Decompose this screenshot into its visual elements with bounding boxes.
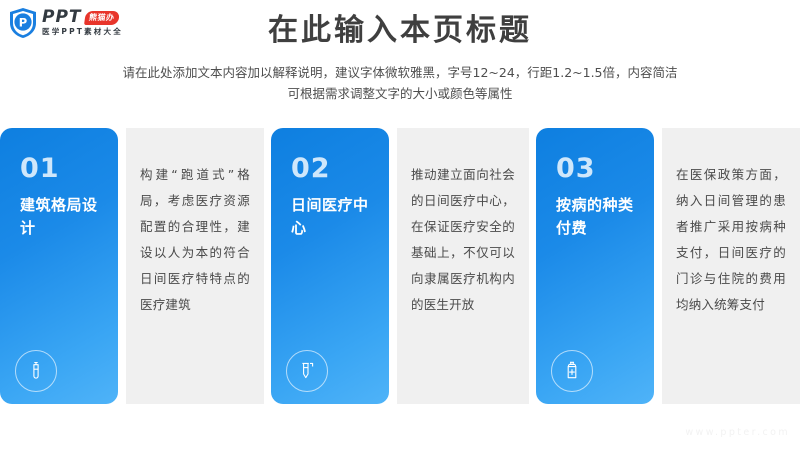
content-block-1: 01 建筑格局设计 构建“跑道式”格局，考虑医疗资源配置的合理性，建设以人为本的… — [0, 128, 264, 404]
card-1-number: 01 — [20, 154, 118, 184]
card-2-heading: 日间医疗中心 — [291, 194, 371, 240]
card-3-heading: 按病的种类付费 — [556, 194, 636, 240]
content-block-2: 02 日间医疗中心 推动建立面向社会的日间医疗中心，在保证医疗安全的基础上，不仅… — [264, 128, 529, 404]
page-title: 在此输入本页标题 — [0, 14, 800, 48]
card-3[interactable]: 03 按病的种类付费 — [536, 128, 654, 404]
medicine-bottle-icon — [551, 350, 593, 392]
panel-2: 推动建立面向社会的日间医疗中心，在保证医疗安全的基础上，不仅可以向隶属医疗机构内… — [397, 128, 529, 404]
ampoule-icon — [15, 350, 57, 392]
card-1[interactable]: 01 建筑格局设计 — [0, 128, 118, 404]
content-block-3: 03 按病的种类付费 在医保政策方面，纳入日间管理的患者推广采用按病种支付，日间… — [529, 128, 800, 404]
panel-3: 在医保政策方面，纳入日间管理的患者推广采用按病种支付，日间医疗的门诊与住院的费用… — [662, 128, 800, 404]
subtitle-line-1: 请在此处添加文本内容加以解释说明，建议字体微软雅黑，字号12~24，行距1.2~… — [0, 62, 800, 83]
test-tube-icon — [286, 350, 328, 392]
subtitle-line-2: 可根据需求调整文字的大小或颜色等属性 — [0, 83, 800, 104]
card-3-number: 03 — [556, 154, 654, 184]
card-2-number: 02 — [291, 154, 389, 184]
card-1-heading: 建筑格局设计 — [20, 194, 100, 240]
watermark: www.ppter.com — [685, 427, 790, 438]
page-subtitle: 请在此处添加文本内容加以解释说明，建议字体微软雅黑，字号12~24，行距1.2~… — [0, 62, 800, 104]
panel-2-body: 推动建立面向社会的日间医疗中心，在保证医疗安全的基础上，不仅可以向隶属医疗机构内… — [411, 162, 515, 318]
card-2[interactable]: 02 日间医疗中心 — [271, 128, 389, 404]
panel-1-body: 构建“跑道式”格局，考虑医疗资源配置的合理性，建设以人为本的符合日间医疗特特点的… — [140, 162, 250, 318]
panel-1: 构建“跑道式”格局，考虑医疗资源配置的合理性，建设以人为本的符合日间医疗特特点的… — [126, 128, 264, 404]
panel-3-body: 在医保政策方面，纳入日间管理的患者推广采用按病种支付，日间医疗的门诊与住院的费用… — [676, 162, 786, 318]
content-blocks: 01 建筑格局设计 构建“跑道式”格局，考虑医疗资源配置的合理性，建设以人为本的… — [0, 128, 800, 404]
